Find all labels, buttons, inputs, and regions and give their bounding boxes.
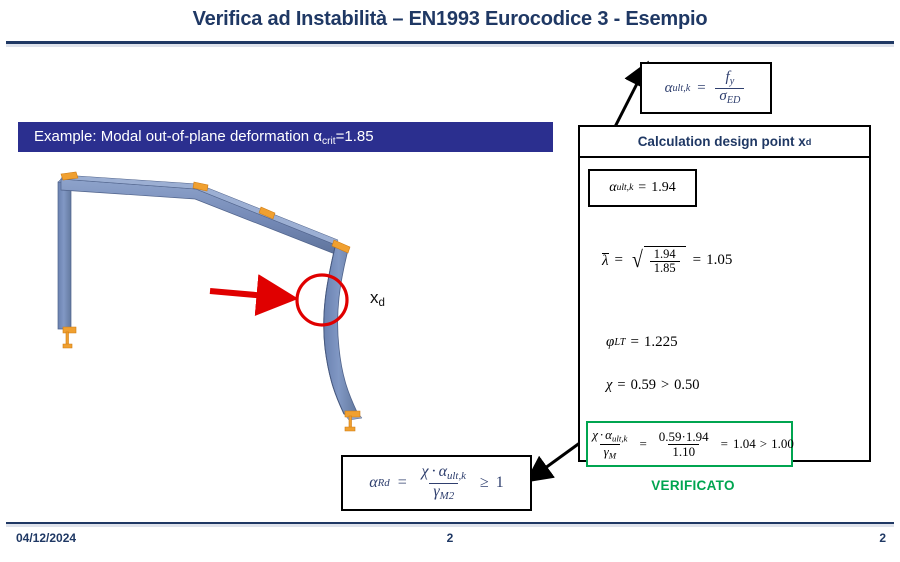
aultk-numerator: fy	[722, 70, 739, 88]
verification-box: χ·αult,k γM = 0.59·1.94 1.10 = 1.04 > 1.…	[586, 421, 793, 467]
design-point-circle	[297, 275, 347, 325]
calculation-panel: Calculation design point xd αult,k = 1.9…	[578, 125, 871, 462]
verification-verdict: VERIFICATO	[578, 478, 808, 493]
aultk-eq: =	[696, 80, 706, 97]
ard-ge: ≥	[480, 474, 489, 492]
ard-denominator: γM2	[429, 483, 458, 502]
ard-rhs: 1	[496, 474, 504, 492]
example-caption-subscript: crit	[322, 135, 336, 146]
ard-lhs: α	[369, 474, 377, 492]
result-row-lambda: λ = √ 1.94 1.85 = 1.05	[602, 246, 732, 275]
example-caption-bar: Example: Modal out-of-plane deformation …	[18, 122, 553, 152]
result-row-chi: χ = 0.59 > 0.50	[606, 376, 700, 394]
ard-lhs-sub: Rd	[378, 477, 390, 489]
footer-divider-shadow	[6, 524, 894, 527]
phi-value: 1.225	[644, 334, 678, 351]
page-title: Verifica ad Instabilità – EN1993 Eurocod…	[0, 8, 900, 31]
ard-den-gamma-sub: M2	[440, 490, 455, 502]
check-num-chi: χ	[592, 427, 598, 442]
chi-limit: 0.50	[674, 377, 699, 394]
phi-sub: LT	[614, 337, 625, 348]
ard-num-alpha: α	[439, 463, 447, 480]
aultk-den-sub: ED	[727, 94, 741, 105]
result-box-alpha-ult-k: αult,k = 1.94	[588, 169, 697, 207]
example-caption-value: =1.85	[336, 128, 374, 145]
formula-alpha-ult-k: αult,k = fy σED	[665, 70, 748, 106]
chi-eq: =	[617, 377, 625, 394]
result-phi: φLT = 1.225	[606, 334, 678, 351]
ard-num-chi: χ	[422, 463, 429, 480]
check-num: χ·αult,k	[588, 428, 631, 444]
aultk-denominator: σED	[715, 88, 744, 107]
formula-box-alpha-ult-k: αult,k = fy σED	[640, 62, 772, 114]
panel-aultk-sub: ult,k	[617, 183, 634, 193]
check-den: γM	[600, 444, 620, 461]
calc-header-sub: d	[806, 137, 812, 147]
support-markers	[61, 172, 360, 431]
verification-expression: χ·αult,k γM = 0.59·1.94 1.10 = 1.04 > 1.…	[585, 428, 794, 461]
result-alpha-ult-k: αult,k = 1.94	[609, 180, 675, 196]
aultk-lhs: α	[665, 80, 673, 97]
chi-value: 0.59	[631, 377, 656, 394]
check-result: 1.04	[733, 436, 756, 452]
panel-aultk-value: 1.94	[651, 180, 676, 196]
aultk-num-sub: y	[730, 76, 735, 87]
lambda-sym: λ	[602, 253, 609, 269]
frame-figure: xd	[18, 152, 553, 440]
panel-aultk-eq: =	[638, 180, 646, 196]
frame-svg	[18, 152, 553, 440]
formula-alpha-rd: αRd = χ·αult,k γM2 ≥ 1	[369, 464, 504, 502]
lambda-radical: √ 1.94 1.85	[631, 246, 686, 275]
check-eq2: =	[721, 436, 728, 452]
aultk-fraction: fy σED	[715, 70, 744, 106]
chi-sym: χ	[606, 377, 612, 394]
red-pointer-arrow	[210, 291, 290, 298]
example-caption-prefix: Example: Modal out-of-plane deformation	[34, 128, 313, 145]
design-point-label-x: x	[370, 288, 379, 307]
check-res-den: 1.10	[668, 444, 699, 459]
phi-eq: =	[630, 334, 638, 351]
check-eq: =	[639, 436, 646, 452]
check-den-gamma-sub: M	[609, 450, 616, 460]
lambda-num: 1.94	[650, 248, 680, 261]
formula-box-alpha-rd: αRd = χ·αult,k γM2 ≥ 1	[341, 455, 532, 511]
panel-aultk-sym: α	[609, 180, 616, 196]
ard-num-dot: ·	[432, 463, 436, 480]
result-lambda: λ = √ 1.94 1.85 = 1.05	[602, 246, 732, 275]
aultk-lhs-sub: ult,k	[672, 83, 690, 94]
lambda-radicand: 1.94 1.85	[644, 246, 686, 275]
check-cmp: >	[760, 436, 767, 452]
check-num-alpha-sub: ult,k	[612, 433, 627, 443]
check-result-fraction: 0.59·1.94 1.10	[655, 430, 713, 458]
example-caption-text: Example: Modal out-of-plane deformation …	[34, 128, 374, 147]
calc-header-text: Calculation design point x	[638, 134, 806, 149]
check-num-alpha: α	[605, 427, 612, 442]
lambda-value: 1.05	[706, 252, 732, 269]
result-chi: χ = 0.59 > 0.50	[606, 377, 700, 394]
chi-cmp: >	[661, 377, 669, 394]
check-limit: 1.00	[771, 436, 794, 452]
title-divider-shadow	[6, 44, 894, 47]
slide-root: Verifica ad Instabilità – EN1993 Eurocod…	[0, 0, 900, 562]
footer-page-right: 2	[879, 531, 886, 545]
ard-num-alpha-sub: ult,k	[447, 470, 466, 482]
check-lhs-fraction: χ·αult,k γM	[588, 428, 631, 461]
lambda-fraction: 1.94 1.85	[650, 248, 680, 275]
footer-page-center: 2	[0, 531, 900, 545]
left-column	[58, 178, 75, 329]
right-column-buckled	[324, 247, 362, 420]
design-point-label-sub: d	[379, 297, 385, 309]
calculation-panel-body: αult,k = 1.94 λ = √ 1.94 1.85	[580, 158, 869, 460]
ard-eq: =	[397, 474, 408, 492]
aultk-den-sym: σ	[719, 88, 726, 104]
lambda-eq2: =	[693, 252, 701, 269]
lambda-den: 1.85	[650, 261, 680, 275]
ard-fraction: χ·αult,k γM2	[418, 464, 470, 502]
example-caption-symbol: α	[313, 128, 322, 145]
radical-sign-icon: √	[632, 246, 643, 275]
check-num-dot: ·	[600, 427, 603, 442]
design-point-label: xd	[370, 288, 385, 309]
calculation-panel-header: Calculation design point xd	[580, 127, 869, 158]
result-row-phi: φLT = 1.225	[606, 333, 678, 351]
ard-numerator: χ·αult,k	[418, 464, 470, 482]
check-res-num: 0.59·1.94	[655, 430, 713, 444]
lambda-eq: =	[615, 252, 623, 269]
